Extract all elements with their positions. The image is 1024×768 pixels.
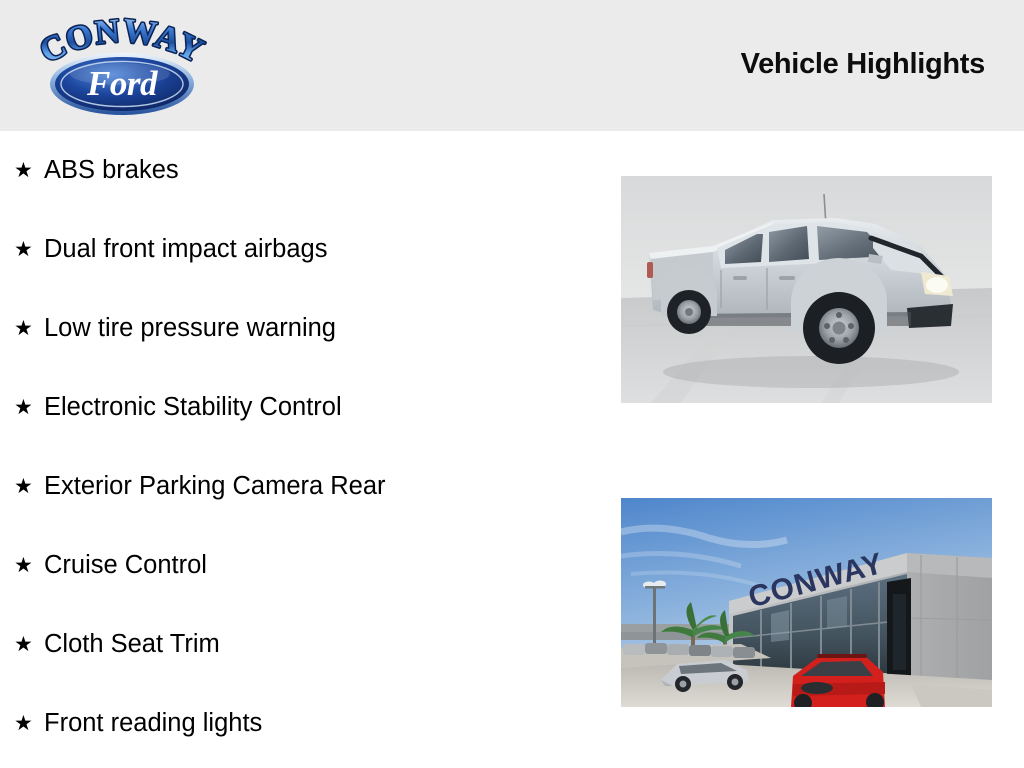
list-item: ★ Cruise Control <box>0 526 600 605</box>
highlight-label: Dual front impact airbags <box>44 235 327 263</box>
list-item: ★ Cloth Seat Trim <box>0 605 600 684</box>
list-item: ★ ABS brakes <box>0 131 600 210</box>
vehicle-photo[interactable] <box>621 176 992 403</box>
list-item: ★ Dual front impact airbags <box>0 210 600 289</box>
star-bullet-icon: ★ <box>14 476 44 497</box>
highlight-label: Front reading lights <box>44 709 262 737</box>
svg-text:Ford: Ford <box>86 64 158 103</box>
star-bullet-icon: ★ <box>14 160 44 181</box>
vehicle-highlights-list: ★ ABS brakes ★ Dual front impact airbags… <box>0 131 600 763</box>
list-item: ★ Low tire pressure warning <box>0 289 600 368</box>
highlight-label: Cloth Seat Trim <box>44 630 220 658</box>
star-bullet-icon: ★ <box>14 634 44 655</box>
conway-ford-logo[interactable]: CONWAY CONWAY Ford <box>22 12 222 120</box>
star-bullet-icon: ★ <box>14 713 44 734</box>
dealership-photo[interactable]: CONWAY <box>621 498 992 707</box>
highlight-label: Exterior Parking Camera Rear <box>44 472 386 500</box>
highlight-label: ABS brakes <box>44 156 179 184</box>
list-item: ★ Electronic Stability Control <box>0 368 600 447</box>
list-item: ★ Front reading lights <box>0 684 600 763</box>
highlight-label: Low tire pressure warning <box>44 314 336 342</box>
star-bullet-icon: ★ <box>14 555 44 576</box>
list-item: ★ Exterior Parking Camera Rear <box>0 447 600 526</box>
highlight-label: Electronic Stability Control <box>44 393 342 421</box>
page-title: Vehicle Highlights <box>741 48 985 81</box>
highlight-label: Cruise Control <box>44 551 207 579</box>
conway-ford-logo-graphic: CONWAY CONWAY Ford <box>22 12 222 120</box>
star-bullet-icon: ★ <box>14 318 44 339</box>
star-bullet-icon: ★ <box>14 397 44 418</box>
star-bullet-icon: ★ <box>14 239 44 260</box>
dealership-photo-graphic: CONWAY <box>621 498 992 707</box>
vehicle-photo-graphic <box>621 176 992 403</box>
